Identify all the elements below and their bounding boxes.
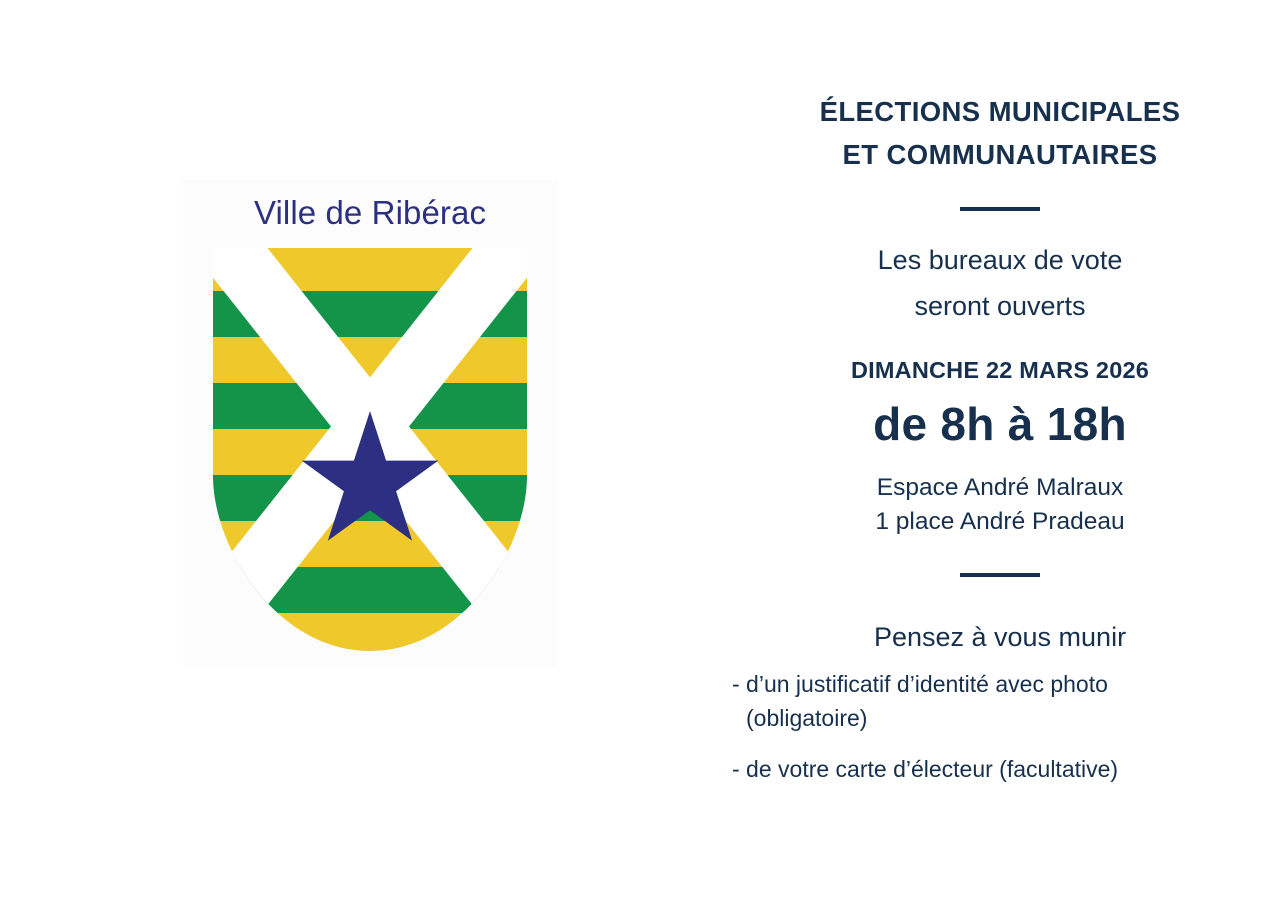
town-crest-icon [213, 248, 527, 651]
opening-hours: de 8h à 18h [720, 397, 1280, 451]
venue-name: Espace André Malraux [720, 472, 1280, 504]
election-date: DIMANCHE 22 MARS 2026 [720, 357, 1280, 384]
bring-section-title: Pensez à vous munir [720, 622, 1280, 653]
poster-title-line-2: ET COMMUNAUTAIRES [720, 136, 1280, 174]
lead-line-2: seront ouverts [720, 289, 1280, 325]
bring-items-list: - d’un justificatif d’identité avec phot… [732, 668, 1280, 787]
venue-address: 1 place André Pradeau [720, 506, 1280, 538]
election-poster: Ville de Ribérac [0, 0, 1280, 904]
divider-rule-top [960, 207, 1040, 211]
town-logo-card: Ville de Ribérac [183, 180, 557, 667]
information-pane: ÉLECTIONS MUNICIPALES ET COMMUNAUTAIRES … [720, 0, 1280, 904]
town-name-label: Ville de Ribérac [183, 194, 557, 232]
bring-item: - d’un justificatif d’identité avec phot… [732, 668, 1280, 702]
poster-title-line-1: ÉLECTIONS MUNICIPALES [720, 93, 1280, 131]
bring-item: (obligatoire) [732, 702, 1280, 736]
divider-rule-bottom [960, 573, 1040, 577]
bring-item: - de votre carte d’électeur (facultative… [732, 753, 1280, 787]
logo-pane: Ville de Ribérac [0, 0, 720, 904]
lead-line-1: Les bureaux de vote [720, 243, 1280, 279]
